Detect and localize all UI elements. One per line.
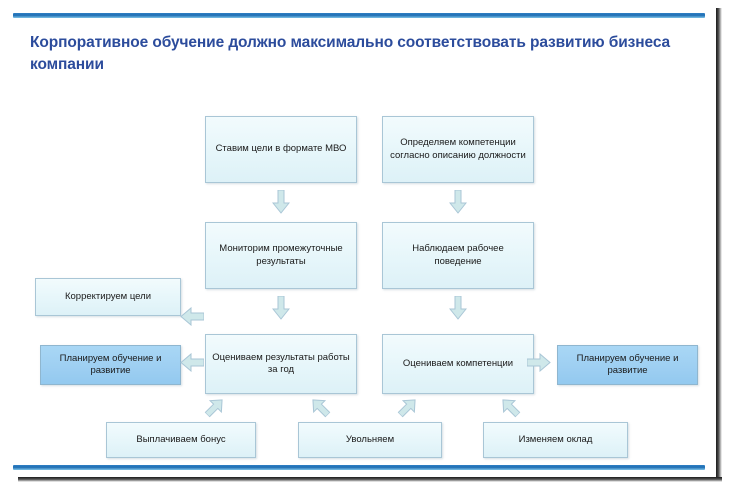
box-pay-bonus[interactable]: Выплачиваем бонус bbox=[106, 422, 256, 458]
box-evaluate-year-results-label: Оцениваем результаты работы за год bbox=[212, 352, 350, 377]
box-evaluate-year-results[interactable]: Оцениваем результаты работы за год bbox=[205, 334, 357, 394]
arrow-down-icon-right-1 bbox=[449, 190, 467, 214]
box-change-salary-label: Изменяем оклад bbox=[490, 434, 621, 447]
box-plan-training-left-label: Планируем обучение и развитие bbox=[47, 353, 174, 378]
arrow-down-icon-right-2 bbox=[449, 296, 467, 320]
top-divider-rule bbox=[13, 13, 705, 18]
box-correct-goals-label: Корректируем цели bbox=[42, 291, 174, 304]
box-define-competencies-label: Определяем компетенции согласно описанию… bbox=[389, 137, 527, 162]
box-plan-training-right[interactable]: Планируем обучение и развитие bbox=[557, 345, 698, 385]
box-change-salary[interactable]: Изменяем оклад bbox=[483, 422, 628, 458]
box-observe-behavior-label: Наблюдаем рабочее поведение bbox=[389, 243, 527, 268]
arrow-down-left-icon-pay-bonus bbox=[200, 392, 230, 422]
box-plan-training-right-label: Планируем обучение и развитие bbox=[564, 353, 691, 378]
box-evaluate-competencies[interactable]: Оцениваем компетенции bbox=[382, 334, 534, 394]
box-dismiss-label: Увольняем bbox=[305, 434, 435, 447]
box-evaluate-competencies-label: Оцениваем компетенции bbox=[389, 358, 527, 371]
box-monitor-interim-label: Мониторим промежуточные результаты bbox=[212, 243, 350, 268]
page-title: Корпоративное обучение должно максимальн… bbox=[30, 32, 690, 76]
arrow-left-icon-plan-training bbox=[180, 352, 204, 372]
box-goals-mbo-label: Ставим цели в формате МВО bbox=[212, 143, 350, 156]
arrow-down-icon-left-1 bbox=[272, 190, 290, 214]
box-monitor-interim[interactable]: Мониторим промежуточные результаты bbox=[205, 222, 357, 289]
arrow-down-left-icon-dismiss-right bbox=[393, 392, 423, 422]
slide-canvas: Корпоративное обучение должно максимальн… bbox=[0, 0, 735, 489]
arrow-down-right-icon-dismiss-left bbox=[305, 392, 335, 422]
bottom-divider-rule bbox=[13, 465, 705, 470]
arrow-left-icon-correct-goals bbox=[180, 306, 204, 326]
arrow-down-icon-left-2 bbox=[272, 296, 290, 320]
arrow-down-right-icon-change-salary bbox=[495, 392, 525, 422]
box-pay-bonus-label: Выплачиваем бонус bbox=[113, 434, 249, 447]
box-correct-goals[interactable]: Корректируем цели bbox=[35, 278, 181, 316]
box-plan-training-left[interactable]: Планируем обучение и развитие bbox=[40, 345, 181, 385]
box-dismiss[interactable]: Увольняем bbox=[298, 422, 442, 458]
page-bottom-edge-shadow bbox=[18, 477, 722, 482]
box-goals-mbo[interactable]: Ставим цели в формате МВО bbox=[205, 116, 357, 183]
box-define-competencies[interactable]: Определяем компетенции согласно описанию… bbox=[382, 116, 534, 183]
arrow-right-icon-plan-training bbox=[527, 352, 551, 372]
page-right-edge-shadow bbox=[716, 8, 722, 481]
box-observe-behavior[interactable]: Наблюдаем рабочее поведение bbox=[382, 222, 534, 289]
